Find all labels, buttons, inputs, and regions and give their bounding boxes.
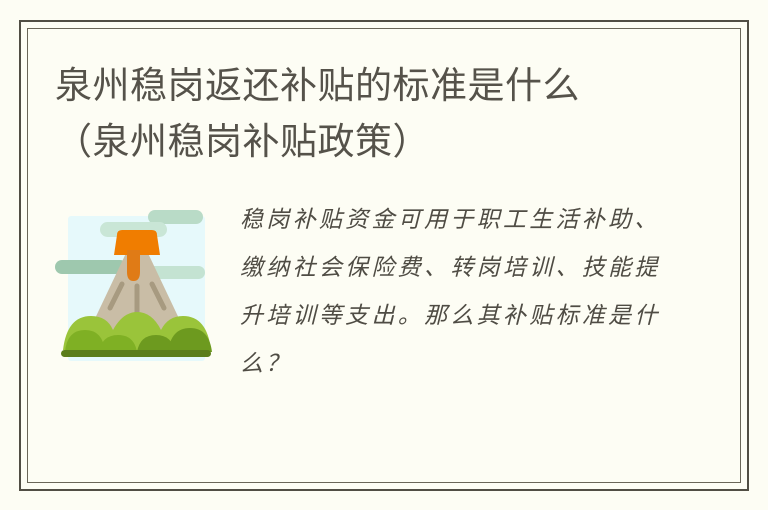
title-line-secondary: （泉州稳岗补贴政策）	[55, 114, 695, 170]
cloud-top-right	[148, 210, 203, 224]
volcano-illustration-svg	[55, 202, 220, 372]
content-row: 稳岗补贴资金可用于职工生活补助、缴纳社会保险费、转岗培训、技能提升培训等支出。那…	[55, 196, 700, 388]
page-title: 泉州稳岗返还补贴的标准是什么 （泉州稳岗补贴政策）	[55, 58, 695, 170]
cloud-mid-left	[55, 260, 127, 274]
article-body: 稳岗补贴资金可用于职工生活补助、缴纳社会保险费、转岗培训、技能提升培训等支出。那…	[240, 196, 660, 388]
ground-strip	[61, 350, 211, 357]
title-line-primary: 泉州稳岗返还补贴的标准是什么	[55, 58, 695, 114]
lava-drip	[127, 250, 140, 281]
article-card: 泉州稳岗返还补贴的标准是什么 （泉州稳岗补贴政策）	[0, 0, 768, 510]
volcano-icon	[55, 202, 220, 372]
